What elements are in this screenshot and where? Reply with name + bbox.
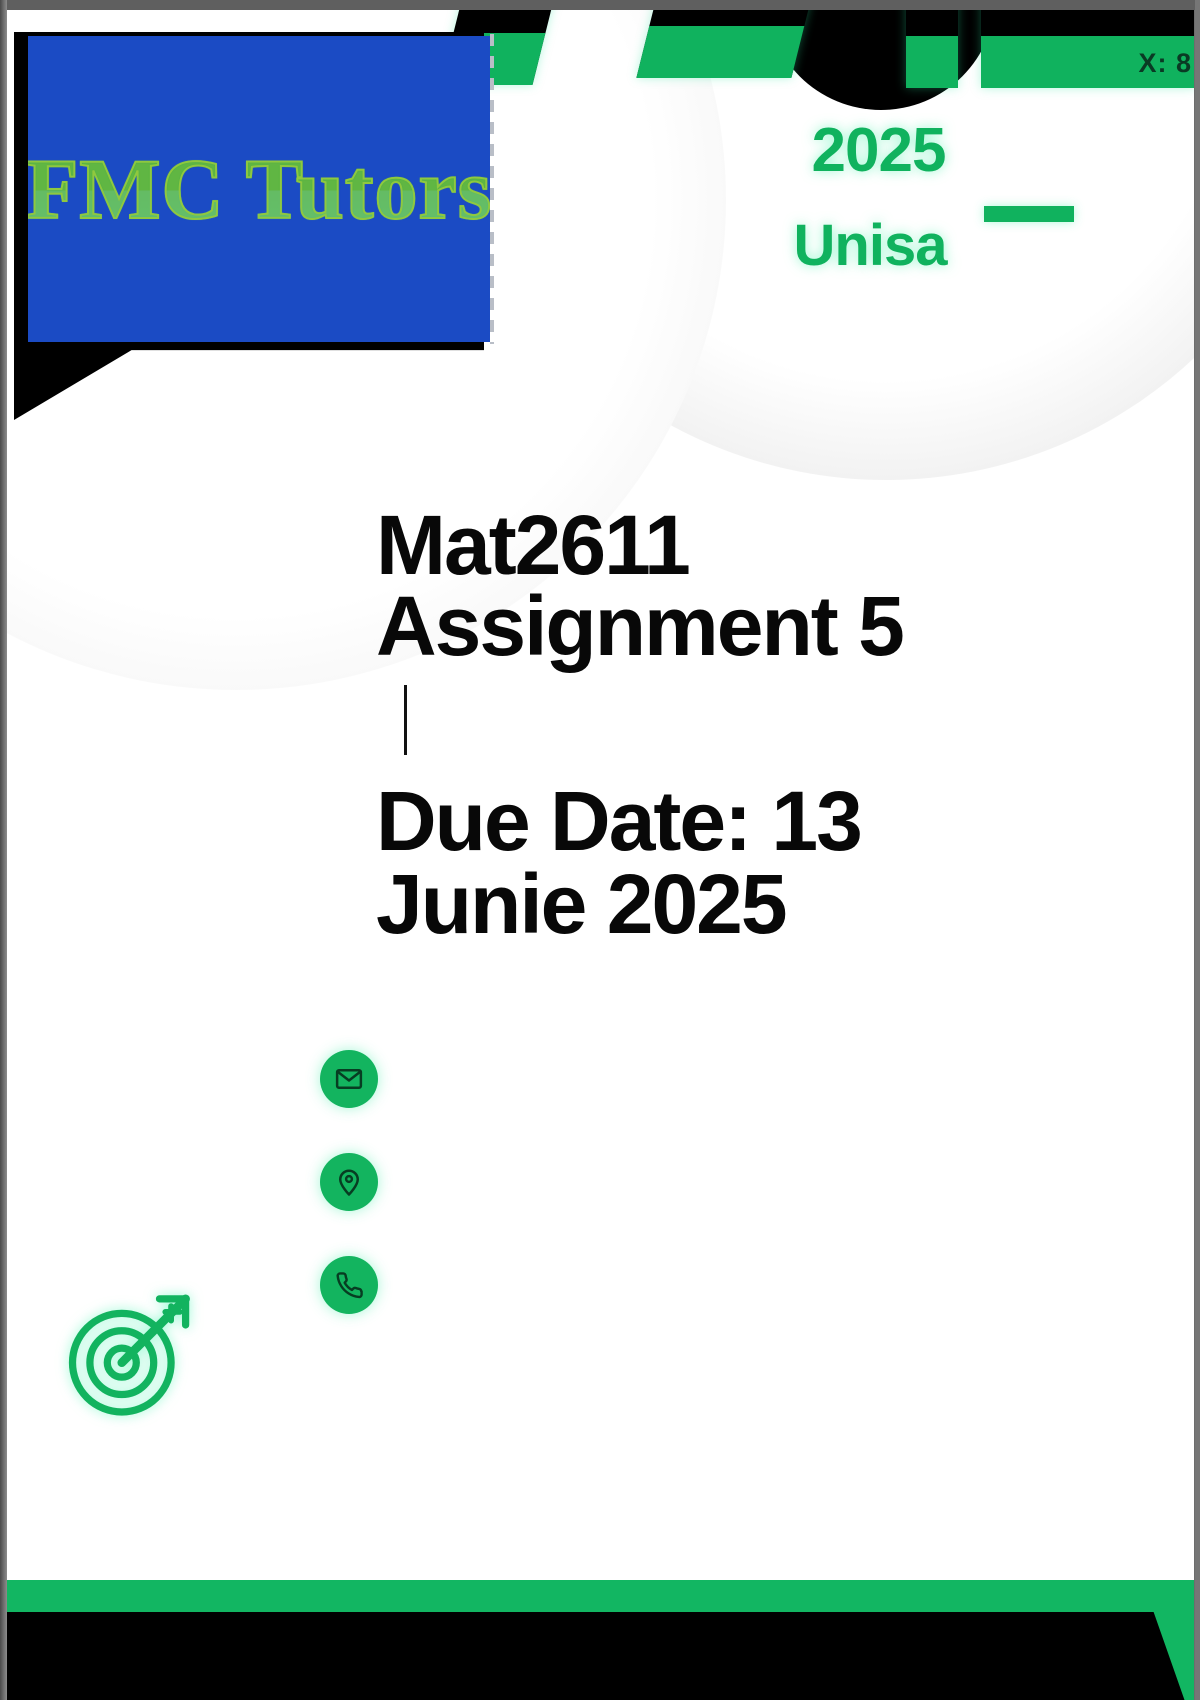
logo-text: FMC Tutors [28, 146, 490, 232]
footer-black-bar [6, 1612, 1194, 1700]
due-date-line-2: Junie 2025 [376, 863, 1136, 946]
dashed-seam [490, 34, 494, 344]
window-top-edge [0, 0, 1200, 10]
overlay-coordinate-label: X: 8 [1138, 48, 1192, 79]
text-caret [404, 685, 407, 755]
phone-icon [335, 1271, 364, 1300]
title-line-2: Assignment 5 [376, 586, 1136, 667]
accent-dash [984, 206, 1074, 222]
window-left-edge [0, 0, 7, 1700]
institution-label: Unisa [754, 212, 986, 279]
poster-page: X: 8 2025 Unisa FMC Tutors Mat2611 Assig… [6, 10, 1194, 1700]
location-badge[interactable] [320, 1153, 378, 1211]
target-arrow-icon [58, 1280, 203, 1425]
location-pin-icon [334, 1167, 364, 1197]
letter-slab-2-green [636, 26, 804, 78]
letter-slab-3 [906, 10, 958, 88]
year-label: 2025 [771, 115, 986, 186]
letter-slab-3-green [906, 36, 958, 88]
due-date-block: Due Date: 13 Junie 2025 [376, 780, 1136, 946]
due-date-line-1: Due Date: 13 [376, 780, 1136, 863]
logo-box: FMC Tutors [28, 36, 490, 342]
contact-badge-list [320, 1050, 378, 1359]
window-right-edge [1195, 0, 1200, 1700]
title-line-1: Mat2611 [376, 505, 1136, 586]
poster-canvas: X: 8 2025 Unisa FMC Tutors Mat2611 Assig… [0, 0, 1200, 1700]
phone-badge[interactable] [320, 1256, 378, 1314]
email-badge[interactable] [320, 1050, 378, 1108]
title-block: Mat2611 Assignment 5 [376, 505, 1136, 666]
email-icon [334, 1064, 364, 1094]
